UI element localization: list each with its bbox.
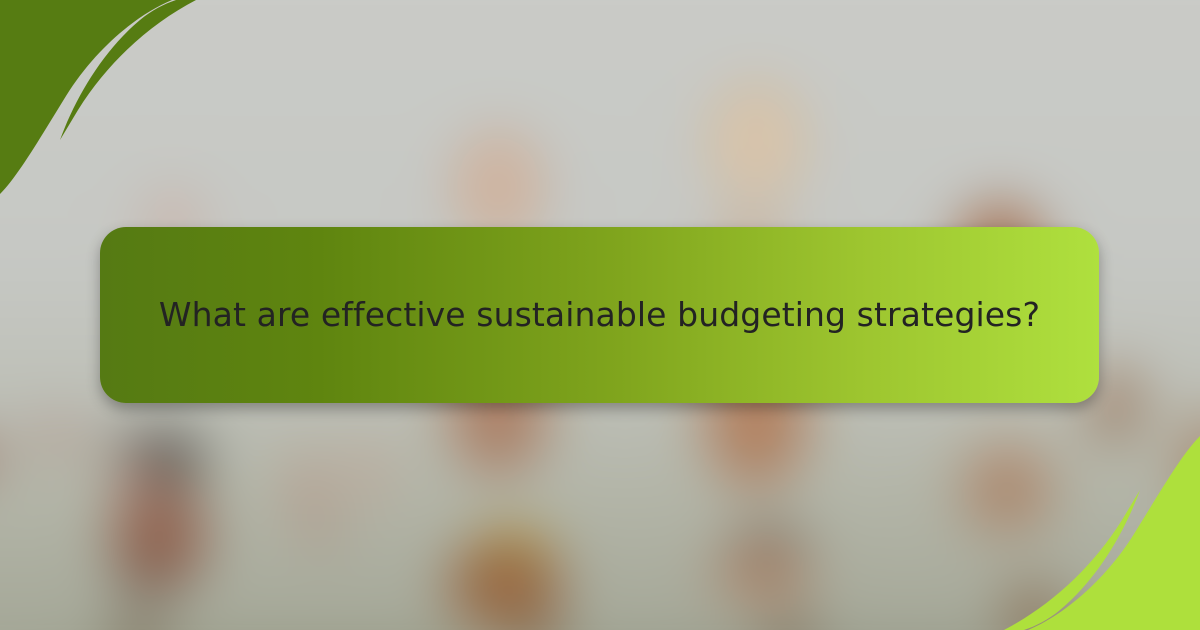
question-text: What are effective sustainable budgeting… xyxy=(158,288,1041,343)
question-card-banner: What are effective sustainable budgeting… xyxy=(0,0,1200,630)
question-card: What are effective sustainable budgeting… xyxy=(100,227,1099,403)
